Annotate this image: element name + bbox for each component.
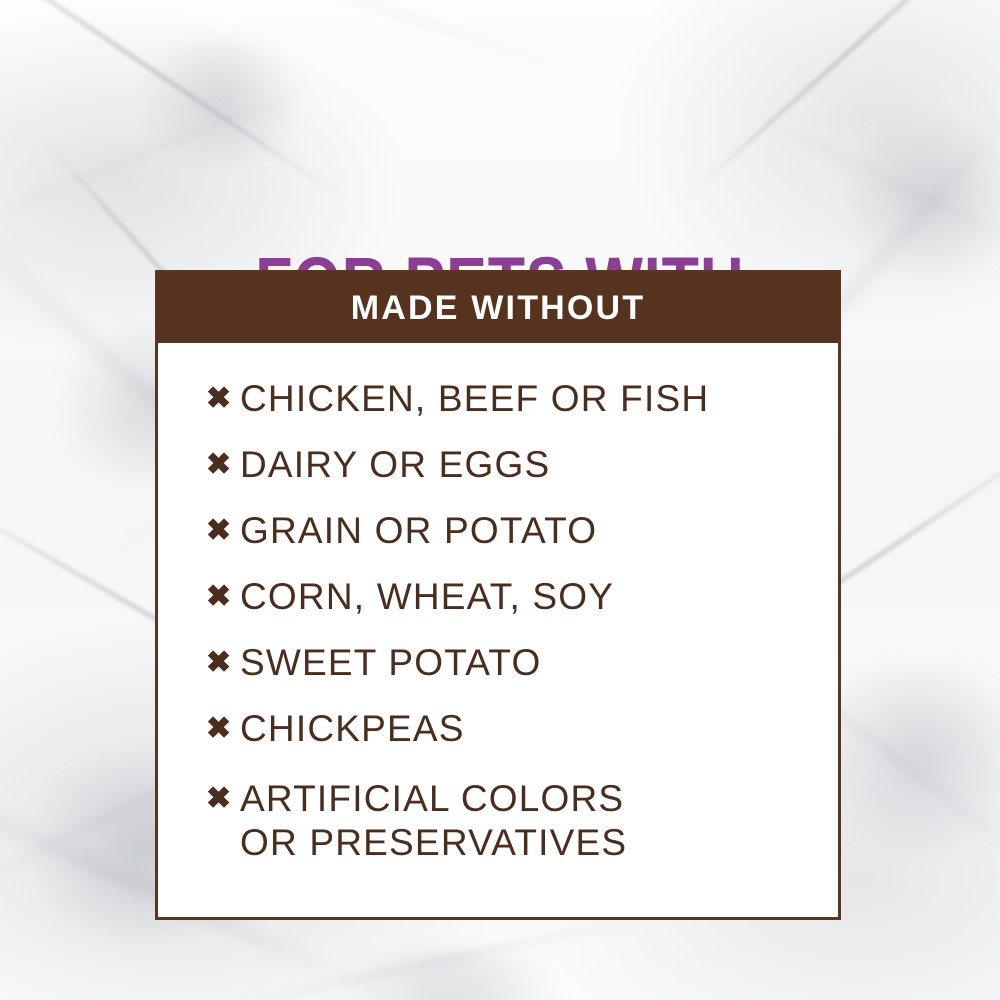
card-body: ✖ CHICKEN, BEEF OR FISH ✖ DAIRY OR EGGS … bbox=[158, 343, 838, 917]
list-item: ✖ DAIRY OR EGGS bbox=[206, 443, 808, 487]
list-item: ✖ CHICKPEAS bbox=[206, 707, 808, 751]
list-item-label: CORN, WHEAT, SOY bbox=[240, 575, 614, 619]
product-claim-graphic: FOR PETS WITH FOOD SENSITIVITIES MADE WI… bbox=[0, 0, 1000, 1000]
list-item: ✖ GRAIN OR POTATO bbox=[206, 509, 808, 553]
x-mark-icon: ✖ bbox=[206, 707, 240, 751]
list-item-label: DAIRY OR EGGS bbox=[240, 443, 550, 487]
list-item: ✖ CORN, WHEAT, SOY bbox=[206, 575, 808, 619]
list-item-label: CHICKEN, BEEF OR FISH bbox=[240, 377, 709, 421]
x-mark-icon: ✖ bbox=[206, 377, 240, 421]
list-item: ✖ ARTIFICIAL COLORS OR PRESERVATIVES bbox=[206, 777, 808, 865]
list-item-label: GRAIN OR POTATO bbox=[240, 509, 597, 553]
made-without-list: ✖ CHICKEN, BEEF OR FISH ✖ DAIRY OR EGGS … bbox=[206, 377, 808, 865]
list-item-label: ARTIFICIAL COLORS OR PRESERVATIVES bbox=[240, 777, 627, 865]
card-header-title: MADE WITHOUT bbox=[351, 289, 646, 328]
x-mark-icon: ✖ bbox=[206, 575, 240, 619]
x-mark-icon: ✖ bbox=[206, 777, 240, 821]
list-item: ✖ CHICKEN, BEEF OR FISH bbox=[206, 377, 808, 421]
x-mark-icon: ✖ bbox=[206, 443, 240, 487]
list-item-label: CHICKPEAS bbox=[240, 707, 465, 751]
x-mark-icon: ✖ bbox=[206, 641, 240, 685]
made-without-card: MADE WITHOUT ✖ CHICKEN, BEEF OR FISH ✖ D… bbox=[155, 270, 841, 920]
x-mark-icon: ✖ bbox=[206, 509, 240, 553]
list-item-label: SWEET POTATO bbox=[240, 641, 542, 685]
list-item: ✖ SWEET POTATO bbox=[206, 641, 808, 685]
card-header: MADE WITHOUT bbox=[158, 273, 838, 343]
